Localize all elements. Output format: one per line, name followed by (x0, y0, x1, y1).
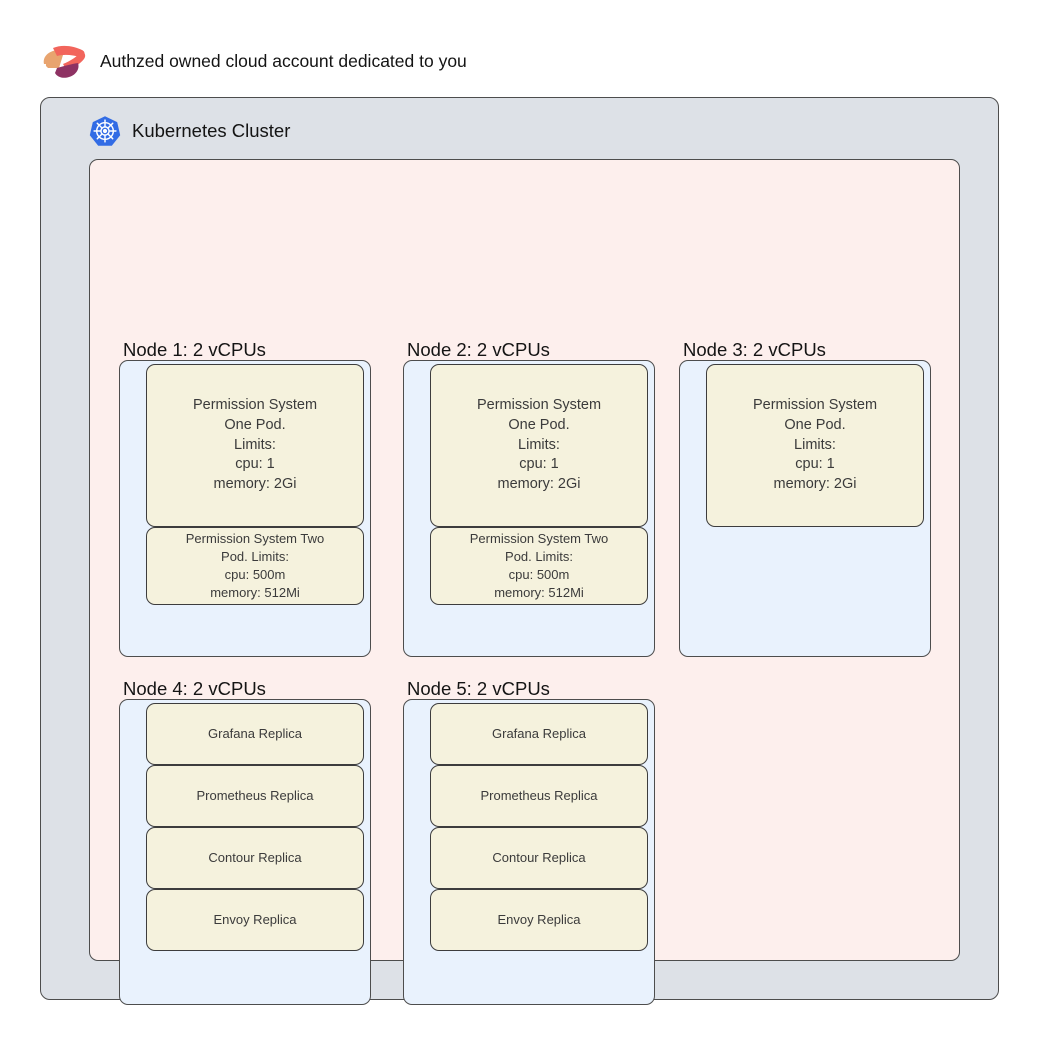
node-5-label: Node 5: 2 vCPUs (407, 679, 550, 698)
node-5-pod-stack: Grafana Replica Prometheus Replica Conto… (430, 703, 648, 951)
node-2-label: Node 2: 2 vCPUs (407, 340, 550, 359)
node-1-permission-system-one-pod[interactable]: Permission System One Pod. Limits: cpu: … (146, 364, 364, 527)
pod-label: Prometheus Replica (480, 787, 597, 805)
authzed-logo (40, 44, 88, 80)
pod-label: Permission System One Pod. Limits: cpu: … (477, 396, 601, 495)
node-4-prometheus-replica-pod[interactable]: Prometheus Replica (146, 765, 364, 827)
node-4-pod-stack: Grafana Replica Prometheus Replica Conto… (146, 703, 364, 951)
node-3-group: Node 3: 2 vCPUs Permission System One Po… (679, 360, 931, 657)
cluster-title: Kubernetes Cluster (132, 122, 290, 141)
node-2-box[interactable]: Permission System One Pod. Limits: cpu: … (403, 360, 655, 657)
pod-label: Permission System One Pod. Limits: cpu: … (753, 396, 877, 495)
pod-label: Permission System One Pod. Limits: cpu: … (193, 396, 317, 495)
node-3-label: Node 3: 2 vCPUs (683, 340, 826, 359)
pod-label: Grafana Replica (492, 725, 586, 743)
node-4-box[interactable]: Grafana Replica Prometheus Replica Conto… (119, 699, 371, 1005)
node-1-group: Node 1: 2 vCPUs Permission System One Po… (119, 360, 371, 657)
pod-label: Envoy Replica (497, 911, 580, 929)
pod-label: Prometheus Replica (196, 787, 313, 805)
kubernetes-icon (89, 115, 121, 147)
node-1-permission-system-two-pod[interactable]: Permission System Two Pod. Limits: cpu: … (146, 527, 364, 605)
pod-label: Permission System Two Pod. Limits: cpu: … (186, 530, 324, 601)
node-4-grafana-replica-pod[interactable]: Grafana Replica (146, 703, 364, 765)
node-4-contour-replica-pod[interactable]: Contour Replica (146, 827, 364, 889)
pod-label: Grafana Replica (208, 725, 302, 743)
node-2-permission-system-one-pod[interactable]: Permission System One Pod. Limits: cpu: … (430, 364, 648, 527)
node-5-envoy-replica-pod[interactable]: Envoy Replica (430, 889, 648, 951)
account-header-title: Authzed owned cloud account dedicated to… (100, 53, 467, 71)
node-2-group: Node 2: 2 vCPUs Permission System One Po… (403, 360, 655, 657)
node-1-box[interactable]: Permission System One Pod. Limits: cpu: … (119, 360, 371, 657)
node-5-grafana-replica-pod[interactable]: Grafana Replica (430, 703, 648, 765)
node-4-envoy-replica-pod[interactable]: Envoy Replica (146, 889, 364, 951)
node-2-pod-stack: Permission System One Pod. Limits: cpu: … (430, 364, 648, 605)
pod-label: Contour Replica (208, 849, 301, 867)
node-5-group: Node 5: 2 vCPUs Grafana Replica Promethe… (403, 699, 655, 1005)
cluster-title-row: Kubernetes Cluster (89, 116, 290, 146)
node-3-box[interactable]: Permission System One Pod. Limits: cpu: … (679, 360, 931, 657)
pod-label: Permission System Two Pod. Limits: cpu: … (470, 530, 608, 601)
node-1-label: Node 1: 2 vCPUs (123, 340, 266, 359)
node-1-pod-stack: Permission System One Pod. Limits: cpu: … (146, 364, 364, 605)
node-3-pod-stack: Permission System One Pod. Limits: cpu: … (706, 364, 924, 527)
nodes-region: Node 1: 2 vCPUs Permission System One Po… (89, 159, 960, 961)
pod-label: Contour Replica (492, 849, 585, 867)
node-5-prometheus-replica-pod[interactable]: Prometheus Replica (430, 765, 648, 827)
node-5-box[interactable]: Grafana Replica Prometheus Replica Conto… (403, 699, 655, 1005)
node-2-permission-system-two-pod[interactable]: Permission System Two Pod. Limits: cpu: … (430, 527, 648, 605)
node-4-label: Node 4: 2 vCPUs (123, 679, 266, 698)
node-5-contour-replica-pod[interactable]: Contour Replica (430, 827, 648, 889)
pod-label: Envoy Replica (213, 911, 296, 929)
node-3-permission-system-one-pod[interactable]: Permission System One Pod. Limits: cpu: … (706, 364, 924, 527)
cloud-account-frame: Kubernetes Cluster Node 1: 2 vCPUs Permi… (40, 97, 999, 1000)
account-header: Authzed owned cloud account dedicated to… (40, 42, 467, 82)
node-4-group: Node 4: 2 vCPUs Grafana Replica Promethe… (119, 699, 371, 1005)
